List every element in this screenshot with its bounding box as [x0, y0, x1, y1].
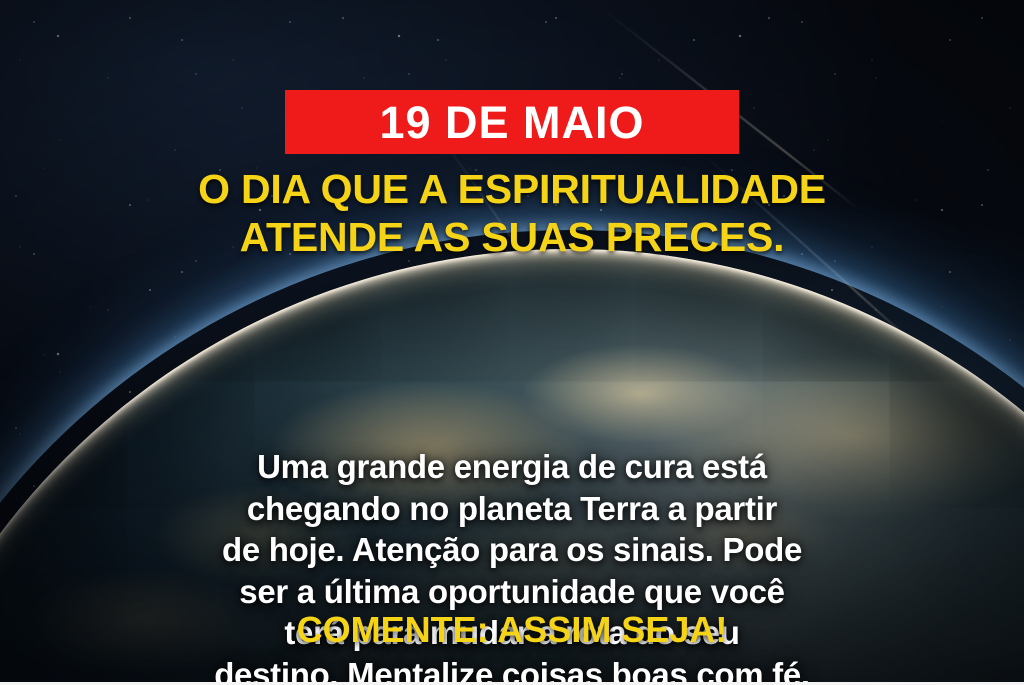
body-line-4: ser a última oportunidade que você — [46, 571, 978, 613]
poster-content: 19 DE MAIO O DIA QUE A ESPIRITUALIDADE A… — [0, 0, 1024, 685]
body-line-3: de hoje. Atenção para os sinais. Pode — [46, 529, 978, 571]
headline-line-2: ATENDE AS SUAS PRECES. — [40, 214, 984, 262]
call-to-action-text: COMENTE: ASSIM SEJA! — [0, 612, 1024, 648]
body-line-6: destino. Mentalize coisas boas com fé. — [46, 654, 978, 685]
headline-line-1: O DIA QUE A ESPIRITUALIDADE — [40, 166, 984, 214]
headline: O DIA QUE A ESPIRITUALIDADE ATENDE AS SU… — [0, 166, 1024, 261]
date-banner-text: 19 DE MAIO — [379, 100, 644, 145]
body-line-2: chegando no planeta Terra a partir — [46, 488, 978, 530]
body-line-1: Uma grande energia de cura está — [46, 446, 978, 488]
poster-image: 19 DE MAIO O DIA QUE A ESPIRITUALIDADE A… — [0, 0, 1024, 685]
date-banner: 19 DE MAIO — [285, 90, 739, 154]
